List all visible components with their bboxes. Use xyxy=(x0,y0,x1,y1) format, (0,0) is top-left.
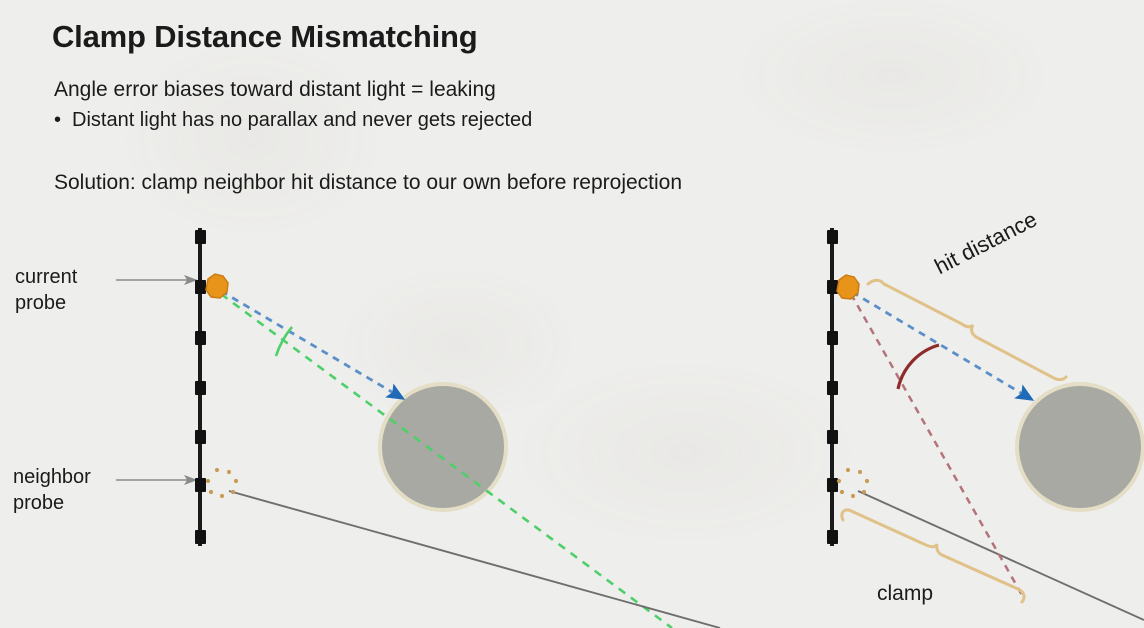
label-current-probe: current probe xyxy=(15,265,77,316)
current-probe-marker-right xyxy=(837,275,859,299)
current-probe-marker-left xyxy=(206,274,228,298)
neighbor-probe-marker-left xyxy=(206,468,238,498)
neighbor-probe-marker-right xyxy=(837,468,869,498)
gray-neighbor-ray-left xyxy=(229,491,720,628)
label-neighbor-probe: neighbor probe xyxy=(13,465,91,516)
slide-root: Clamp Distance Mismatching Angle error b… xyxy=(0,0,1144,628)
diagram-canvas xyxy=(0,0,1144,628)
angle-arc-red-right xyxy=(898,345,939,389)
blue-hit-ray-left xyxy=(221,291,397,395)
right-panel-clamped-case xyxy=(827,228,1144,620)
left-panel-mismatch-case xyxy=(116,228,720,628)
label-clamp: clamp xyxy=(877,581,933,608)
occluder-sphere-right xyxy=(1017,384,1143,510)
brace-hit-distance xyxy=(868,280,1066,379)
